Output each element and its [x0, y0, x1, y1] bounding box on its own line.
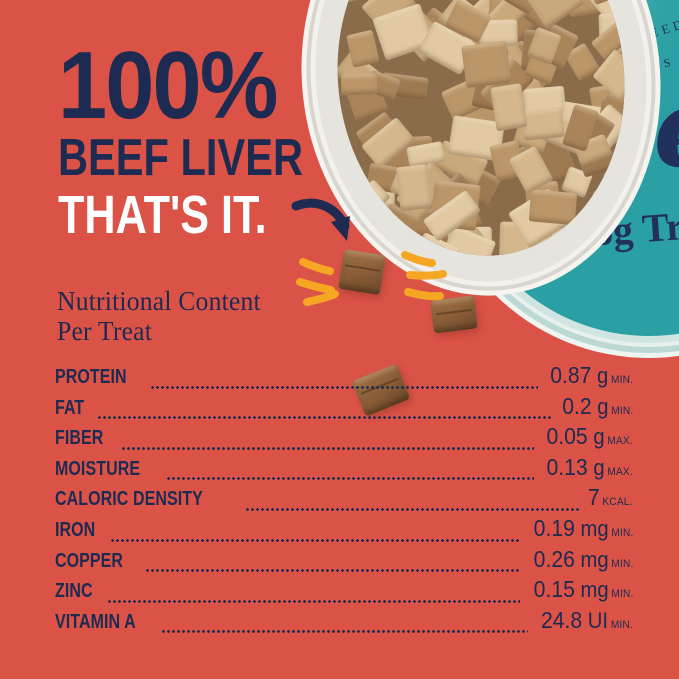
treat-chunk: [396, 160, 456, 221]
loose-treat: [430, 295, 478, 333]
nutrient-value: 0.19 mgMIN.: [533, 515, 633, 542]
treat-chunk: [577, 111, 616, 152]
table-row: COPPER0.26 mgMIN.: [55, 546, 633, 577]
nutrient-unit: mg: [574, 577, 608, 602]
treat-chunk: [513, 115, 552, 153]
treat-chunk: [595, 92, 639, 140]
treat-chunk: [596, 0, 642, 4]
treat-chunk: [521, 29, 560, 74]
loose-treat: [338, 249, 386, 295]
product-infographic: GUARANTEED DELICIOUS Stewart Dog Treats: [0, 0, 679, 679]
treat-chunk: [596, 98, 637, 141]
treat-chunk: [524, 51, 559, 84]
treat-chunk: [468, 31, 509, 66]
dotted-leader: [245, 508, 580, 511]
treat-chunk: [418, 7, 452, 41]
treat-chunk: [591, 19, 635, 61]
treat-chunk: [582, 0, 642, 24]
nutrition-table: PROTEIN0.87 gMIN.FAT0.2 gMIN.FIBER0.05 g…: [55, 362, 633, 637]
treat-chunk: [523, 0, 584, 29]
headline-thats-it: THAT'S IT.: [58, 188, 322, 242]
treat-chunk: [440, 225, 494, 270]
treat-chunk: [545, 219, 593, 268]
treat-chunk: [447, 227, 491, 253]
nutrient-amount: 0.13: [547, 454, 588, 480]
treat-chunk: [635, 224, 642, 267]
treat-chunk: [434, 196, 483, 239]
treat-chunk: [512, 246, 555, 270]
nutrient-label: MOISTURE: [55, 458, 140, 481]
treat-chunk: [381, 72, 430, 100]
treat-chunk: [615, 216, 642, 251]
treat-chunk: [559, 224, 604, 266]
nutrient-qualifier: MAX.: [608, 466, 633, 478]
nutrient-qualifier: MAX.: [608, 435, 633, 447]
treat-chunk: [566, 0, 607, 17]
table-row: FIBER0.05 gMAX.: [55, 423, 633, 454]
treat-chunk: [592, 49, 642, 101]
brand-logo-script: Stewart: [520, 48, 679, 196]
treat-chunk: [430, 183, 474, 211]
treat-chunk: [439, 225, 496, 270]
nutrient-qualifier: MIN.: [611, 619, 633, 631]
product-lid: GUARANTEED DELICIOUS Stewart Dog Treats: [452, 0, 679, 336]
nutrient-unit: g: [591, 394, 608, 419]
treat-chunk: [480, 58, 534, 113]
treat-chunk: [476, 36, 510, 65]
treat-chunk: [425, 195, 470, 233]
treat-chunk: [451, 93, 508, 150]
treat-chunk: [413, 232, 460, 270]
treat-chunk: [382, 135, 434, 171]
treat-chunk: [373, 254, 439, 270]
nutrient-qualifier: KCAL.: [603, 496, 633, 508]
treat-chunk: [428, 254, 472, 270]
treat-chunk: [518, 131, 579, 191]
dotted-leader: [161, 630, 528, 633]
treat-chunk: [441, 73, 497, 121]
treat-chunk: [437, 0, 491, 46]
dotted-leader: [110, 539, 519, 542]
treat-chunk: [432, 226, 476, 270]
treat-chunk: [386, 209, 435, 238]
treat-chunk: [446, 34, 479, 67]
nutrient-label: VITAMIN A: [55, 611, 136, 634]
headline-block: 100% BEEF LIVER THAT'S IT.: [58, 44, 388, 242]
section-title-line2: Per Treat: [57, 316, 261, 346]
lid-subtitle-text: Dog Treats: [563, 198, 679, 258]
treat-chunk: [429, 180, 480, 231]
treat-chunk: [389, 172, 425, 203]
nutrient-qualifier: MIN.: [611, 405, 633, 417]
treat-chunk: [558, 101, 616, 141]
nutrient-amount: 7: [588, 484, 600, 510]
nutrient-amount: 0.19: [533, 515, 574, 541]
treat-chunk: [456, 0, 509, 46]
treat-chunk: [598, 12, 642, 54]
treat-chunk: [432, 140, 488, 187]
nutrient-amount: 0.87: [550, 362, 591, 388]
treat-chunk: [486, 0, 531, 37]
treat-chunk: [417, 20, 477, 74]
table-row: IRON0.19 mgMIN.: [55, 515, 633, 546]
nutrient-unit: g: [591, 363, 608, 388]
treat-chunk: [395, 8, 449, 62]
lid-artwork: GUARANTEED DELICIOUS Stewart Dog Treats: [452, 0, 679, 336]
treat-chunk: [522, 107, 564, 140]
treat-chunk: [602, 216, 642, 269]
dotted-leader: [150, 386, 538, 389]
sparkle-dash-group: [300, 255, 443, 302]
treat-chunk: [564, 42, 601, 81]
treat-chunk: [369, 257, 411, 270]
page-title: Nutritional Content Per Treat: [57, 286, 261, 346]
nutrient-amount: 0.05: [547, 423, 588, 449]
table-row: FAT0.2 gMIN.: [55, 393, 633, 424]
treat-chunk: [410, 243, 467, 270]
treat-chunk: [593, 181, 642, 211]
treat-chunk: [536, 23, 579, 69]
dotted-leader: [97, 416, 551, 419]
nutrient-value: 0.87 gMIN.: [550, 362, 633, 389]
treat-chunk: [495, 0, 541, 15]
treat-chunk: [488, 0, 538, 24]
nutrient-amount: 0.26: [533, 546, 574, 572]
nutrient-unit: g: [588, 455, 605, 480]
nutrient-qualifier: MIN.: [611, 588, 633, 600]
dotted-leader: [145, 569, 519, 572]
treat-chunk: [594, 171, 642, 221]
treat-chunk: [491, 1, 536, 47]
treat-chunk: [581, 0, 620, 5]
nutrient-unit: g: [588, 424, 605, 449]
table-row: PROTEIN0.87 gMIN.: [55, 362, 633, 393]
treat-chunk: [636, 202, 641, 241]
nutrient-label: IRON: [55, 519, 95, 542]
treat-chunk: [447, 116, 504, 162]
treat-chunk: [509, 55, 553, 97]
treat-chunk: [489, 140, 526, 181]
nutrient-label: CALORIC DENSITY: [55, 488, 203, 511]
treat-chunk: [427, 28, 468, 65]
headline-percent: 100%: [58, 44, 362, 128]
treat-chunk: [523, 91, 555, 119]
treat-chunk: [523, 86, 568, 131]
nutrient-label: FAT: [55, 397, 84, 420]
treat-chunk: [441, 156, 501, 208]
table-row: MOISTURE0.13 gMAX.: [55, 454, 633, 485]
table-row: VITAMIN A24.8 UIMIN.: [55, 607, 633, 638]
nutrient-label: PROTEIN: [55, 366, 127, 389]
treat-chunk: [423, 190, 481, 242]
treat-chunk: [396, 164, 431, 211]
dotted-leader: [166, 477, 534, 480]
treat-chunk: [572, 125, 618, 177]
nutrient-qualifier: MIN.: [611, 374, 633, 386]
treat-chunk: [479, 20, 517, 47]
treat-chunk: [499, 221, 552, 263]
nutrient-unit: mg: [574, 516, 608, 541]
nutrient-qualifier: MIN.: [611, 527, 633, 539]
nutrient-qualifier: MIN.: [611, 558, 633, 570]
treat-chunk: [562, 104, 598, 151]
nutrient-value: 7KCAL.: [588, 484, 633, 511]
nutrient-value: 24.8 UIMIN.: [541, 607, 633, 634]
treat-chunk: [386, 248, 421, 270]
treat-chunk: [561, 166, 593, 198]
treat-chunk: [635, 188, 642, 219]
nutrient-value: 0.05 gMAX.: [547, 423, 633, 450]
treat-chunk: [529, 189, 577, 225]
treat-chunk: [526, 27, 561, 65]
treat-chunk: [445, 0, 492, 43]
lid-guaranteed-text: GUARANTEED: [560, 16, 679, 69]
nutrient-value: 0.13 gMAX.: [547, 454, 633, 481]
lid-delicious-text: DELICIOUS: [583, 55, 674, 88]
treat-chunk: [508, 188, 571, 248]
nutrient-unit: mg: [574, 547, 608, 572]
treat-chunk: [461, 40, 511, 88]
treat-chunk: [527, 242, 572, 270]
treat-chunk: [341, 0, 390, 3]
treat-chunk: [517, 208, 564, 255]
nutrient-amount: 0.15: [533, 576, 574, 602]
treat-chunk: [589, 80, 641, 116]
treat-chunk: [525, 181, 562, 224]
nutrient-value: 0.2 gMIN.: [562, 393, 633, 420]
nutrient-amount: 0.2: [562, 393, 591, 419]
table-row: ZINC0.15 mgMIN.: [55, 576, 633, 607]
nutrient-amount: 24.8: [541, 607, 582, 633]
nutrient-unit: UI: [582, 608, 608, 633]
treat-chunk: [406, 141, 446, 168]
nutrient-label: ZINC: [55, 580, 93, 603]
treat-chunk: [474, 27, 518, 57]
nutrient-label: COPPER: [55, 550, 123, 573]
nutrient-label: FIBER: [55, 427, 103, 450]
treat-chunk: [384, 139, 419, 176]
treat-chunk: [542, 112, 590, 155]
treat-chunk: [471, 32, 527, 67]
treat-chunk: [522, 0, 560, 35]
treat-chunk: [490, 83, 527, 131]
nutrient-value: 0.15 mgMIN.: [533, 576, 633, 603]
treat-chunk: [439, 171, 479, 211]
nutrient-value: 0.26 mgMIN.: [533, 546, 633, 573]
treat-chunk: [361, 0, 417, 33]
treat-chunk: [582, 103, 632, 153]
dotted-leader: [107, 600, 519, 603]
treat-chunk: [501, 75, 547, 114]
treat-chunk: [485, 37, 534, 90]
treat-chunk: [573, 133, 612, 166]
treat-chunk: [509, 145, 553, 193]
treat-chunk: [471, 78, 507, 112]
dotted-leader: [121, 447, 535, 450]
table-row: CALORIC DENSITY7KCAL.: [55, 484, 633, 515]
section-title-line1: Nutritional Content: [57, 286, 261, 316]
headline-beef-liver: BEEF LIVER: [58, 132, 322, 185]
